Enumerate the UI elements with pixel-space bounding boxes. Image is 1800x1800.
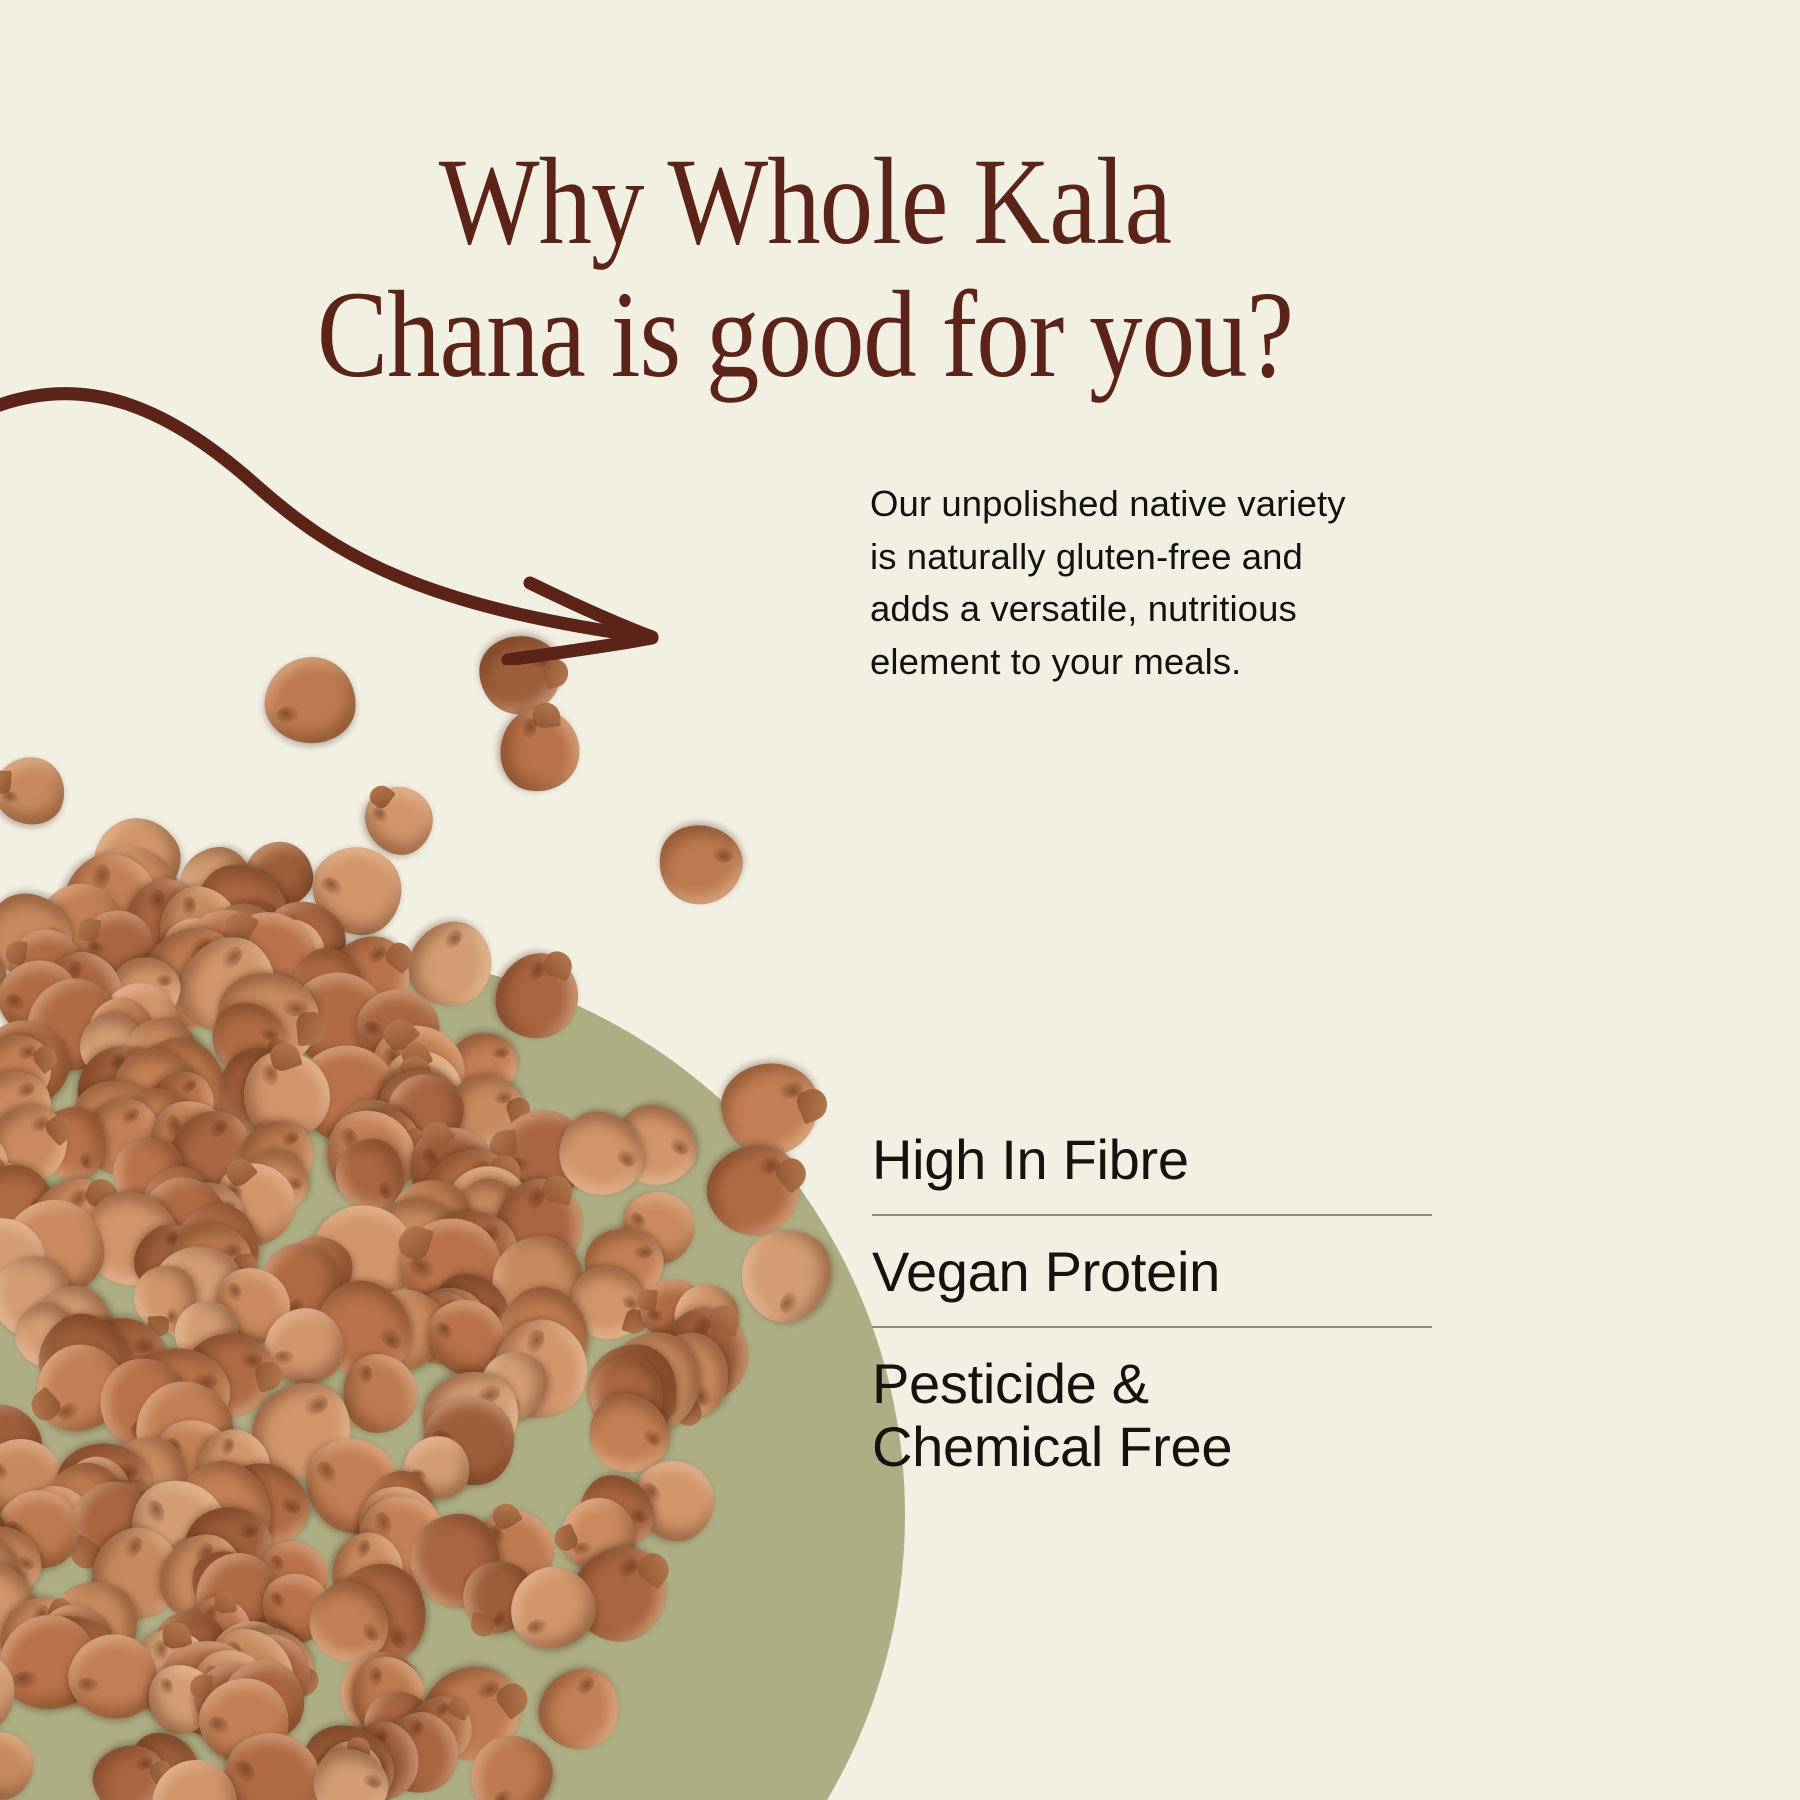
curved-arrow-icon [0, 355, 690, 665]
list-item: Vegan Protein [872, 1240, 1432, 1326]
chickpea [0, 748, 74, 833]
list-divider [872, 1326, 1432, 1328]
chickpea [0, 1718, 46, 1800]
benefits-list: High In Fibre Vegan Protein Pesticide & … [872, 1128, 1432, 1501]
list-divider [872, 1214, 1432, 1216]
chickpea [651, 818, 749, 913]
poster-canvas: Why Whole Kala Chana is good for you? Ou… [0, 0, 1800, 1800]
chickpea [493, 702, 586, 799]
list-item: High In Fibre [872, 1128, 1432, 1214]
list-item: Pesticide & Chemical Free [872, 1352, 1432, 1502]
chickpea [261, 653, 359, 746]
kala-chana-chickpeas-image [0, 690, 900, 1800]
intro-paragraph: Our unpolished native variety is natural… [870, 478, 1450, 688]
